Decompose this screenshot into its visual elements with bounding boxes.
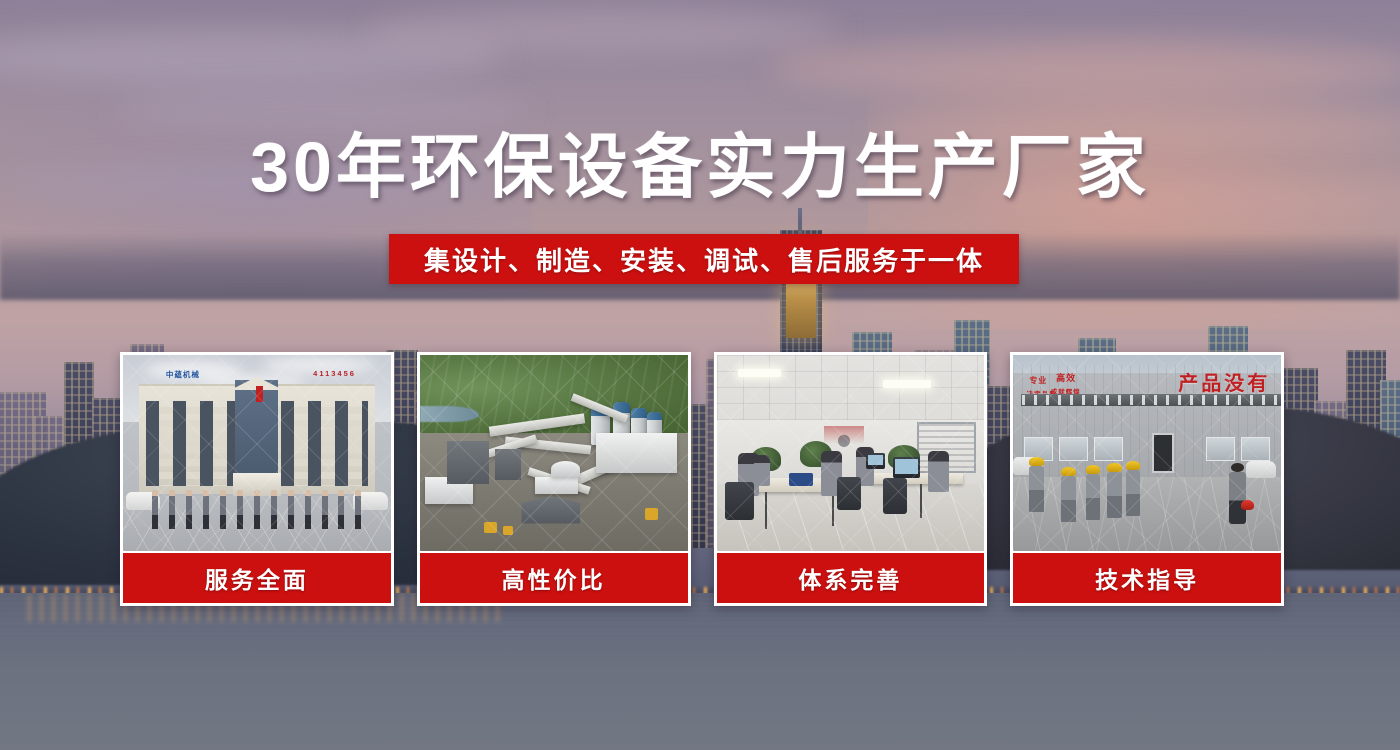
- staff-row: [152, 490, 361, 529]
- card-caption: 技术指导: [1013, 551, 1281, 603]
- card-photo-office-interior: [717, 355, 985, 551]
- building-sign-text: 中蕴机械: [166, 369, 200, 380]
- cloud-band: [770, 38, 1400, 98]
- feature-card[interactable]: 高性价比: [417, 352, 691, 606]
- feature-card-list: 中蕴机械 4113456 服务全面: [120, 352, 1284, 606]
- card-caption-label: 高性价比: [502, 561, 606, 595]
- promo-banner: 30年环保设备实力生产厂家 集设计、制造、安装、调试、售后服务于一体 中蕴机械 …: [0, 0, 1400, 750]
- cloud-band: [364, 8, 840, 53]
- factory-slogan-main: 产品没有: [1178, 367, 1270, 396]
- feature-card[interactable]: 体系完善: [714, 352, 988, 606]
- card-caption: 服务全面: [123, 551, 391, 603]
- feature-card[interactable]: 中蕴机械 4113456 服务全面: [120, 352, 394, 606]
- card-caption: 体系完善: [717, 551, 985, 603]
- subtitle-banner: 集设计、制造、安装、调试、售后服务于一体: [389, 234, 1019, 284]
- page-title: 30年环保设备实力生产厂家: [0, 132, 1400, 202]
- card-caption: 高性价比: [420, 551, 688, 603]
- card-caption-label: 服务全面: [205, 561, 309, 595]
- subtitle-text: 集设计、制造、安装、调试、售后服务于一体: [424, 241, 984, 278]
- red-helmet-icon: [1241, 500, 1254, 510]
- river: [0, 593, 1400, 750]
- feature-card[interactable]: 产品没有 专业 高效 决定品质 成就辉煌: [1010, 352, 1284, 606]
- factory-slogan-1: 专业: [1029, 375, 1047, 386]
- card-caption-label: 体系完善: [798, 561, 902, 595]
- card-caption-label: 技术指导: [1095, 561, 1199, 595]
- card-photo-office-building: 中蕴机械 4113456: [123, 355, 391, 551]
- factory-slogan-2: 高效: [1056, 371, 1076, 384]
- card-photo-industrial-plant: [420, 355, 688, 551]
- card-photo-workers-briefing: 产品没有 专业 高效 决定品质 成就辉煌: [1013, 355, 1281, 551]
- building-phone-text: 4113456: [313, 369, 356, 378]
- cloud-band: [112, 90, 532, 128]
